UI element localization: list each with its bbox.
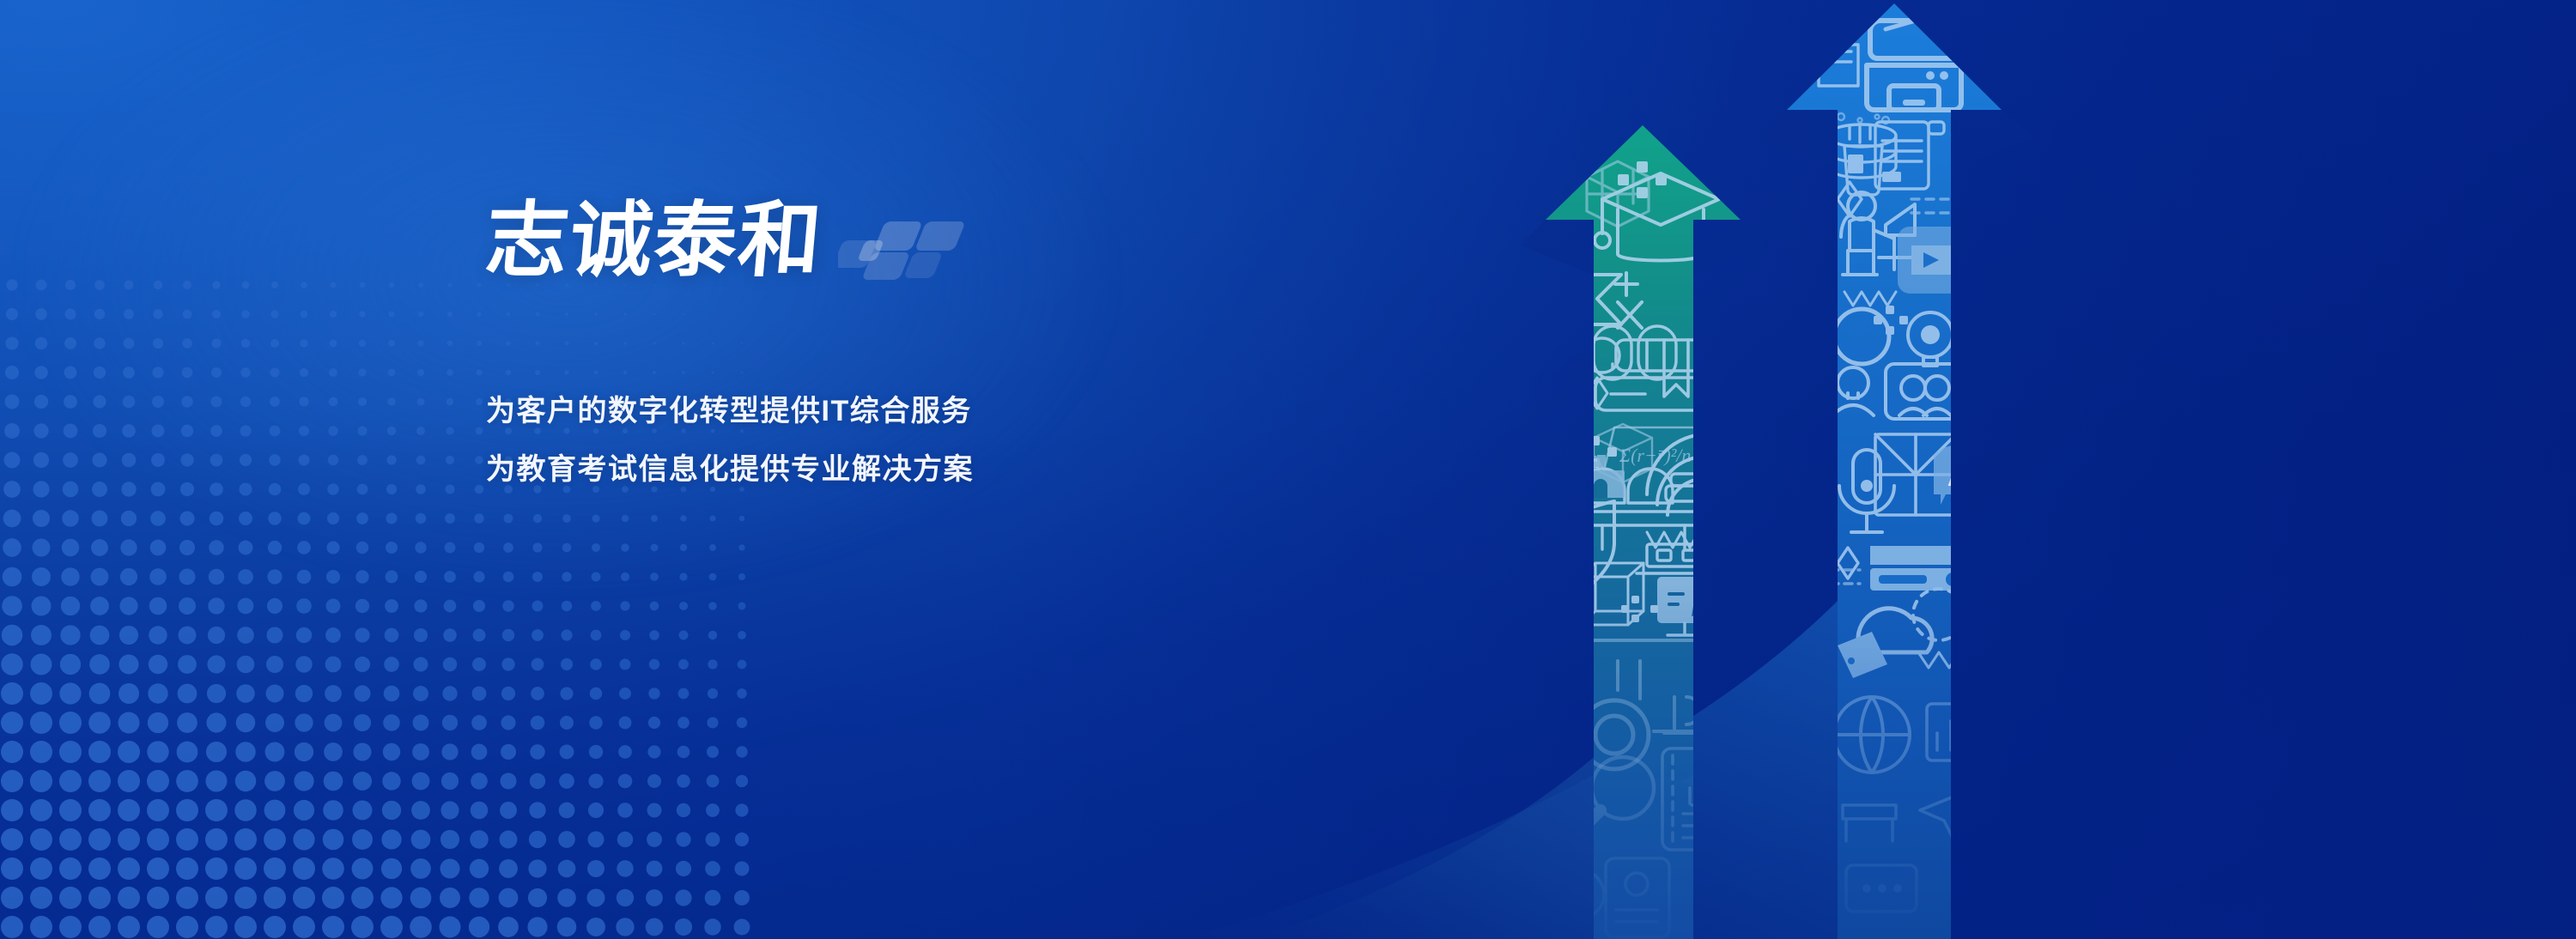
four-parallelogram-logo-mark bbox=[838, 215, 1001, 282]
hero-banner: Σ(r−r̄)²/n bbox=[0, 0, 2576, 939]
tagline-line-1: 为客户的数字化转型提供IT综合服务 bbox=[486, 397, 1345, 426]
brand-row: 志诚泰和 bbox=[486, 196, 1345, 309]
page-title: 志诚泰和 bbox=[482, 196, 826, 287]
tagline-line-2: 为教育考试信息化提供专业解决方案 bbox=[486, 455, 1345, 484]
tagline-list: 为客户的数字化转型提供IT综合服务 为教育考试信息化提供专业解决方案 bbox=[486, 397, 1345, 484]
hero-text-block: 志诚泰和 为客户的数字化转型提供IT综合服务 为教育考试信息化提供专业解决方案 bbox=[486, 196, 1345, 484]
